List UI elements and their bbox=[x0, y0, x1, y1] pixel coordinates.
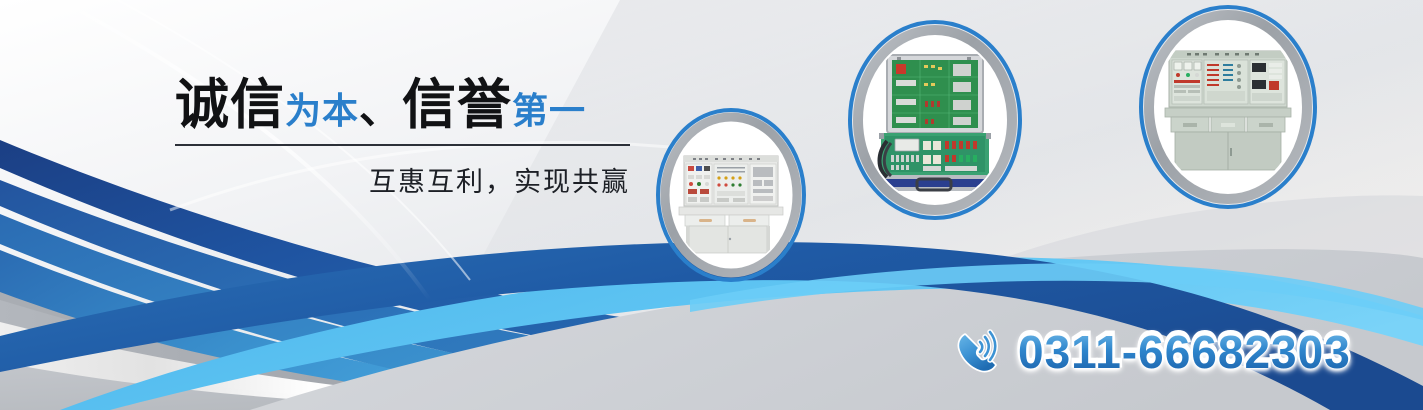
workbench-illustration bbox=[671, 123, 791, 267]
product-circle-training-case[interactable] bbox=[847, 19, 1023, 221]
headline-block: 诚信为本、信誉第一 互惠互利，实现共赢 bbox=[175, 78, 630, 199]
slogan-part-2: 为本 bbox=[285, 90, 359, 131]
contact-phone-block[interactable]: 0311-66682303 0311-66682303 bbox=[952, 326, 1351, 378]
product-photo-2 bbox=[865, 37, 1005, 203]
slogan-subtitle: 互惠互利，实现共赢 bbox=[175, 160, 630, 199]
product-photo-1 bbox=[671, 123, 791, 267]
training-case-illustration bbox=[865, 37, 1005, 203]
control-cabinet-illustration bbox=[1157, 23, 1299, 191]
slogan-part-3: 信誉 bbox=[402, 75, 512, 135]
slogan-part-4: 第一 bbox=[512, 90, 586, 131]
slogan-punctuation: 、 bbox=[359, 85, 402, 132]
phone-number[interactable]: 0311-66682303 bbox=[1018, 329, 1351, 375]
product-circle-control-cabinet[interactable] bbox=[1138, 4, 1318, 210]
product-photo-3 bbox=[1157, 23, 1299, 191]
promotional-banner: 诚信为本、信誉第一 互惠互利，实现共赢 bbox=[0, 0, 1423, 410]
headline-divider bbox=[175, 144, 630, 146]
phone-call-icon bbox=[952, 326, 1004, 378]
slogan-part-1: 诚信 bbox=[175, 75, 285, 135]
product-circle-workbench[interactable] bbox=[655, 107, 807, 283]
slogan-main: 诚信为本、信誉第一 bbox=[175, 78, 630, 132]
